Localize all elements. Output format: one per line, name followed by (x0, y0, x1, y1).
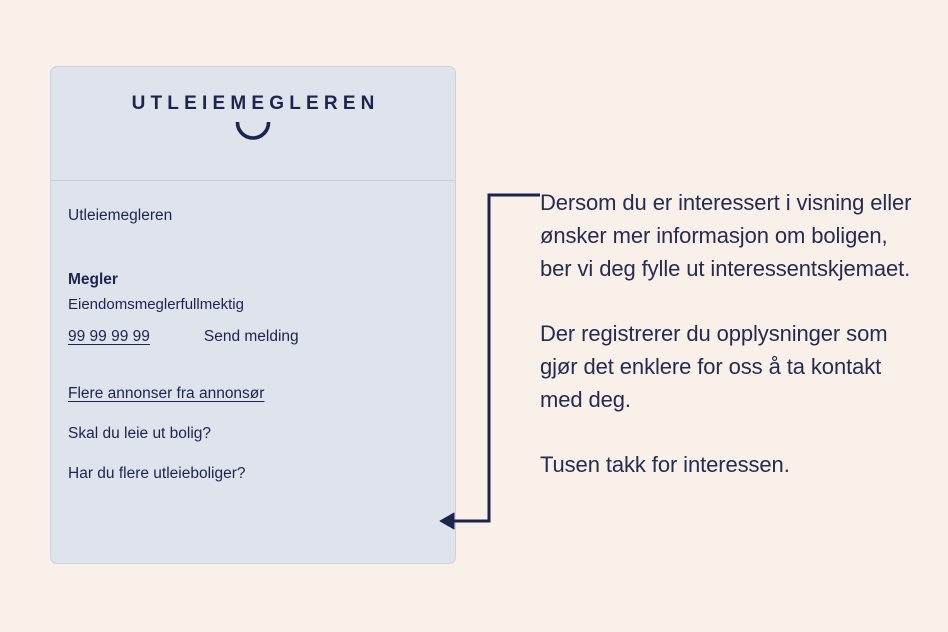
card-body: Utleiemegleren Megler Eiendomsmeglerfull… (51, 181, 455, 564)
annotation-paragraph-3: Tusen takk for interessen. (540, 448, 912, 481)
smile-arc-icon (235, 122, 271, 140)
agent-contact-card: UTLEIEMEGLEREN Utleiemegleren Megler Eie… (50, 66, 456, 564)
annotation-text-block: Dersom du er interessert i visning eller… (540, 186, 912, 481)
annotation-paragraph-2: Der registrerer du opplysninger som gjør… (540, 317, 912, 416)
advertiser-links: Flere annonser fra annonsør Skal du leie… (68, 385, 438, 483)
rent-out-home-link[interactable]: Skal du leie ut bolig? (68, 425, 438, 443)
card-header: UTLEIEMEGLEREN (51, 67, 455, 181)
brand-wordmark: UTLEIEMEGLEREN (126, 94, 379, 113)
agent-details: Megler Eiendomsmeglerfullmektig 99 99 99… (68, 270, 438, 346)
more-ads-from-advertiser-link[interactable]: Flere annonser fra annonsør (68, 385, 264, 403)
phone-number-link[interactable]: 99 99 99 99 (68, 328, 150, 346)
agent-role-title: Megler (68, 270, 438, 289)
contact-row: 99 99 99 99 Send melding (68, 328, 438, 346)
agent-role-subtitle: Eiendomsmeglerfullmektig (68, 296, 438, 315)
send-message-link[interactable]: Send melding (204, 328, 299, 346)
organization-name: Utleiemegleren (68, 207, 438, 226)
multiple-rentals-link[interactable]: Har du flere utleieboliger? (68, 465, 438, 483)
annotation-paragraph-1: Dersom du er interessert i visning eller… (540, 186, 912, 285)
